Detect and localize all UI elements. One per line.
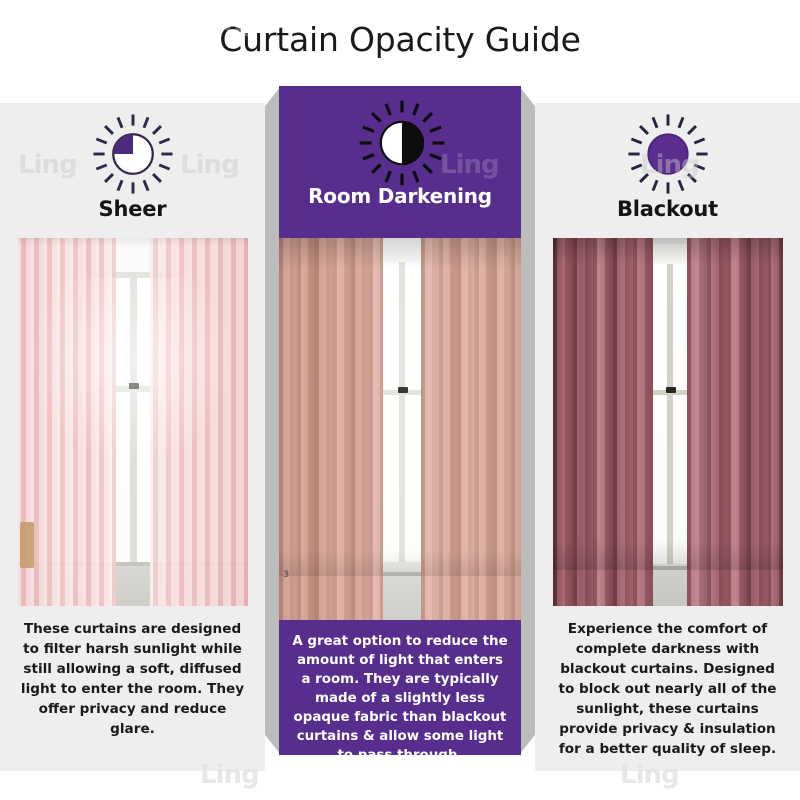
card-sheer-caption: These curtains are designed to filter ha… <box>0 606 265 740</box>
card-blackout-header: Blackout <box>535 103 800 238</box>
sun-half-icon <box>357 98 443 184</box>
card-right-bevel <box>519 86 535 755</box>
card-blackout-label: Blackout <box>617 197 718 221</box>
card-sheer-label: Sheer <box>99 197 167 221</box>
card-room-darkening-photo: 3 <box>279 238 521 620</box>
sun-full-icon <box>625 111 711 197</box>
card-room-darkening-label: Room Darkening <box>308 184 492 208</box>
comparison-stage: Sheer <box>0 0 800 800</box>
card-sheer-header: Sheer <box>0 103 265 238</box>
card-sheer-photo <box>18 238 248 606</box>
card-blackout-caption: Experience the comfort of complete darkn… <box>535 606 800 760</box>
card-room-darkening-caption: A great option to reduce the amount of l… <box>279 620 521 755</box>
card-blackout[interactable]: Blackout Experience the comfort of comp <box>535 103 800 771</box>
card-room-darkening-header: Room Darkening <box>279 86 521 238</box>
sun-quarter-icon <box>90 111 176 197</box>
card-blackout-photo <box>553 238 783 606</box>
card-room-darkening[interactable]: Room Darkening <box>265 86 535 766</box>
card-sheer[interactable]: Sheer <box>0 103 265 771</box>
